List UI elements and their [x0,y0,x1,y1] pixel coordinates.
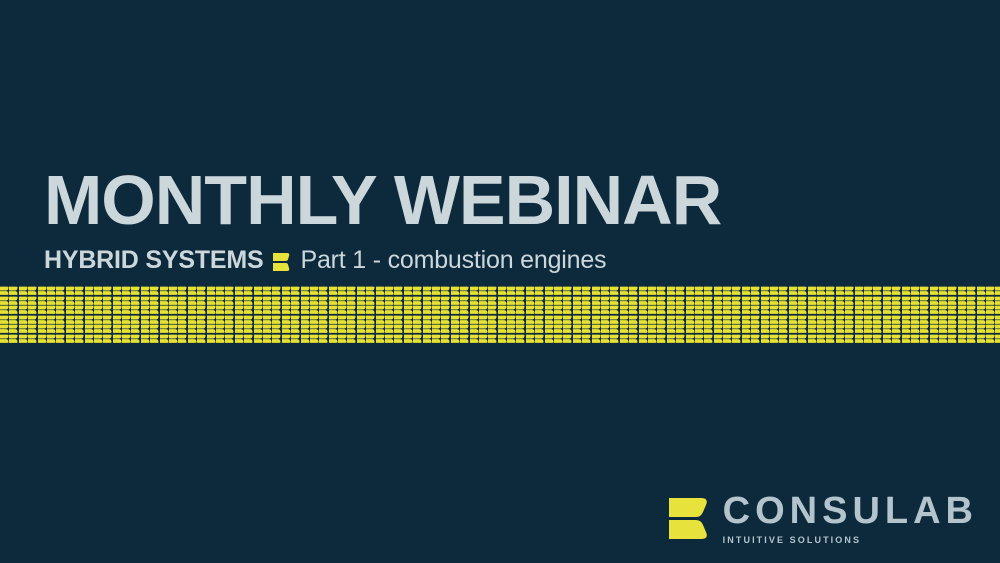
consulab-mark-tile-icon [56,296,65,306]
consulab-mark-tile-icon [169,324,178,334]
consulab-mark-tile-icon [695,296,704,306]
consulab-mark-tile-icon [47,296,56,306]
consulab-mark-tile-icon [535,315,544,325]
consulab-mark-tile-icon [855,296,864,306]
consulab-mark-tile-icon [545,305,554,315]
consulab-mark-icon [669,496,709,541]
consulab-mark-tile-icon [695,286,704,296]
consulab-mark-tile-icon [329,296,338,306]
consulab-mark-tile-icon [545,334,554,344]
consulab-mark-tile-icon [291,334,300,344]
consulab-mark-tile-icon [404,315,413,325]
consulab-mark-tile-icon [28,324,37,334]
consulab-mark-tile-icon [404,286,413,296]
consulab-mark-tile-icon [667,296,676,306]
consulab-mark-tile-icon [676,324,685,334]
consulab-mark-tile-icon [225,286,234,296]
consulab-mark-tile-icon [563,324,572,334]
consulab-mark-tile-icon [460,296,469,306]
consulab-mark-tile-icon [85,296,94,306]
consulab-mark-tile-icon [582,286,591,296]
consulab-mark-tile-icon [751,305,760,315]
consulab-mark-tile-icon [357,324,366,334]
consulab-mark-tile-icon [366,296,375,306]
consulab-mark-tile-icon [357,305,366,315]
consulab-mark-tile-icon [545,296,554,306]
consulab-mark-tile-icon [610,286,619,296]
consulab-mark-tile-icon [639,324,648,334]
consulab-mark-tile-icon [66,324,75,334]
consulab-mark-tile-icon [883,286,892,296]
consulab-mark-tile-icon [939,324,948,334]
consulab-mark-tile-icon [742,305,751,315]
consulab-mark-tile-icon [197,324,206,334]
consulab-mark-tile-icon [902,286,911,296]
consulab-mark-tile-icon [808,286,817,296]
consulab-mark-tile-icon [169,305,178,315]
consulab-mark-tile-icon [470,286,479,296]
consulab-mark-tile-icon [845,305,854,315]
title-block: MONTHLY WEBINAR HYBRID SYSTEMS Part 1 - … [44,165,721,275]
consulab-mark-tile-icon [526,324,535,334]
consulab-mark-tile-icon [995,286,1000,296]
consulab-mark-tile-icon [441,286,450,296]
consulab-mark-tile-icon [554,324,563,334]
logo-tagline: INTUITIVE SOLUTIONS [723,536,978,545]
consulab-mark-tile-icon [751,296,760,306]
consulab-mark-tile-icon [122,324,131,334]
consulab-mark-tile-icon [28,315,37,325]
consulab-mark-tile-icon [958,286,967,296]
consulab-mark-tile-icon [263,286,272,296]
consulab-mark-tile-icon [216,315,225,325]
consulab-mark-tile-icon [855,324,864,334]
consulab-mark-tile-icon [423,296,432,306]
consulab-mark-tile-icon [310,305,319,315]
consulab-mark-tile-icon [225,296,234,306]
consulab-mark-tile-icon [310,324,319,334]
logo-wordmark: CONSULAB [723,492,978,530]
consulab-mark-tile-icon [601,315,610,325]
consulab-mark-tile-icon [357,286,366,296]
consulab-mark-tile-icon [235,315,244,325]
consulab-mark-tile-icon [798,305,807,315]
consulab-mark-tile-icon [732,315,741,325]
consulab-mark-tile-icon [667,286,676,296]
consulab-mark-tile-icon [178,296,187,306]
consulab-mark-tile-icon [394,324,403,334]
consulab-mark-tile-icon [808,305,817,315]
consulab-mark-icon [273,252,290,272]
consulab-mark-tile-icon [592,324,601,334]
consulab-mark-tile-icon [892,296,901,306]
consulab-mark-tile-icon [319,334,328,344]
consulab-mark-tile-icon [488,296,497,306]
consulab-mark-tile-icon [488,305,497,315]
consulab-mark-tile-icon [160,334,169,344]
consulab-mark-tile-icon [244,286,253,296]
consulab-mark-tile-icon [0,324,9,334]
consulab-mark-tile-icon [404,324,413,334]
consulab-mark-tile-icon [873,305,882,315]
consulab-mark-tile-icon [911,305,920,315]
consulab-mark-tile-icon [948,305,957,315]
consulab-mark-tile-icon [948,296,957,306]
consulab-mark-tile-icon [131,334,140,344]
consulab-mark-tile-icon [272,305,281,315]
consulab-mark-tile-icon [113,296,122,306]
consulab-mark-tile-icon [732,305,741,315]
consulab-mark-tile-icon [742,334,751,344]
consulab-mark-tile-icon [648,315,657,325]
consulab-mark-tile-icon [986,305,995,315]
consulab-mark-tile-icon [573,315,582,325]
consulab-mark-tile-icon [573,296,582,306]
consulab-mark-tile-icon [470,305,479,315]
consulab-mark-tile-icon [282,296,291,306]
consulab-mark-tile-icon [338,315,347,325]
consulab-mark-tile-icon [977,305,986,315]
consulab-mark-tile-icon [930,305,939,315]
consulab-mark-tile-icon [122,305,131,315]
consulab-mark-tile-icon [94,315,103,325]
consulab-mark-tile-icon [911,286,920,296]
consulab-mark-tile-icon [197,334,206,344]
consulab-mark-tile-icon [610,305,619,315]
consulab-mark-tile-icon [150,334,159,344]
consulab-mark-tile-icon [798,286,807,296]
consulab-mark-tile-icon [592,334,601,344]
consulab-mark-tile-icon [66,286,75,296]
consulab-mark-tile-icon [920,296,929,306]
consulab-mark-tile-icon [347,334,356,344]
consulab-mark-tile-icon [714,305,723,315]
consulab-mark-tile-icon [873,296,882,306]
consulab-mark-tile-icon [582,315,591,325]
consulab-mark-tile-icon [329,286,338,296]
consulab-mark-tile-icon [366,315,375,325]
consulab-mark-tile-icon [779,324,788,334]
consulab-mark-tile-icon [479,315,488,325]
consulab-mark-tile-icon [667,315,676,325]
consulab-mark-tile-icon [347,305,356,315]
consulab-mark-tile-icon [9,305,18,315]
consulab-mark-tile-icon [676,296,685,306]
consulab-mark-tile-icon [939,296,948,306]
consulab-mark-tile-icon [178,305,187,315]
consulab-mark-tile-icon [864,315,873,325]
consulab-mark-tile-icon [657,305,666,315]
consulab-mark-tile-icon [385,286,394,296]
consulab-mark-tile-icon [85,286,94,296]
consulab-mark-tile-icon [498,296,507,306]
consulab-mark-tile-icon [808,296,817,306]
consulab-mark-tile-icon [902,334,911,344]
consulab-mark-tile-icon [329,305,338,315]
consulab-mark-tile-icon [601,324,610,334]
consulab-mark-tile-icon [930,296,939,306]
consulab-mark-tile-icon [977,324,986,334]
consulab-mark-tile-icon [451,296,460,306]
consulab-mark-tile-icon [826,305,835,315]
consulab-mark-tile-icon [338,334,347,344]
consulab-mark-tile-icon [291,296,300,306]
consulab-mark-tile-icon [272,286,281,296]
consulab-mark-tile-icon [939,286,948,296]
consulab-mark-tile-icon [366,334,375,344]
consulab-mark-tile-icon [441,324,450,334]
consulab-mark-tile-icon [19,315,28,325]
consulab-mark-tile-icon [855,334,864,344]
consulab-mark-tile-icon [883,296,892,306]
consulab-mark-tile-icon [432,286,441,296]
consulab-mark-tile-icon [516,315,525,325]
consulab-mark-tile-icon [413,315,422,325]
consulab-mark-tile-icon [892,305,901,315]
consulab-mark-tile-icon [28,334,37,344]
consulab-mark-tile-icon [216,324,225,334]
consulab-mark-tile-icon [704,315,713,325]
consulab-mark-tile-icon [207,315,216,325]
consulab-mark-tile-icon [291,286,300,296]
consulab-mark-tile-icon [263,296,272,306]
consulab-mark-tile-icon [864,324,873,334]
consulab-mark-tile-icon [150,305,159,315]
consulab-mark-tile-icon [207,296,216,306]
consulab-mark-tile-icon [977,315,986,325]
consulab-mark-tile-icon [75,305,84,315]
consulab-mark-tile-icon [423,315,432,325]
consulab-mark-tile-icon [873,315,882,325]
consulab-mark-tile-icon [329,334,338,344]
consulab-mark-tile-icon [28,296,37,306]
consulab-mark-tile-icon [498,324,507,334]
consulab-mark-tile-icon [310,334,319,344]
consulab-mark-tile-icon [178,324,187,334]
consulab-mark-tile-icon [150,286,159,296]
consulab-mark-tile-icon [188,286,197,296]
consulab-mark-tile-icon [394,296,403,306]
consulab-mark-tile-icon [507,305,516,315]
consulab-mark-tile-icon [704,296,713,306]
consulab-mark-tile-icon [9,334,18,344]
consulab-mark-tile-icon [113,324,122,334]
consulab-mark-tile-icon [470,324,479,334]
consulab-mark-tile-icon [967,324,976,334]
consulab-mark-tile-icon [629,315,638,325]
consulab-mark-tile-icon [516,296,525,306]
consulab-mark-tile-icon [432,324,441,334]
consulab-mark-tile-icon [169,315,178,325]
consulab-mark-tile-icon [197,286,206,296]
consulab-mark-tile-icon [282,315,291,325]
consulab-mark-tile-icon [817,315,826,325]
consulab-mark-tile-icon [301,286,310,296]
consulab-mark-tile-icon [366,305,375,315]
consulab-mark-tile-icon [995,324,1000,334]
consulab-mark-tile-icon [75,286,84,296]
consulab-mark-tile-icon [38,334,47,344]
consulab-mark-tile-icon [103,305,112,315]
consulab-mark-tile-icon [141,305,150,315]
consulab-mark-tile-icon [197,315,206,325]
pattern-row [0,315,1000,325]
consulab-mark-tile-icon [94,286,103,296]
consulab-mark-tile-icon [122,296,131,306]
consulab-mark-tile-icon [639,334,648,344]
consulab-mark-tile-icon [188,305,197,315]
consulab-mark-tile-icon [423,305,432,315]
consulab-mark-tile-icon [479,334,488,344]
consulab-mark-tile-icon [826,296,835,306]
consulab-mark-tile-icon [667,334,676,344]
consulab-mark-tile-icon [864,334,873,344]
consulab-mark-tile-icon [855,305,864,315]
consulab-mark-tile-icon [263,334,272,344]
consulab-mark-tile-icon [47,334,56,344]
consulab-mark-tile-icon [648,324,657,334]
consulab-mark-tile-icon [836,296,845,306]
consulab-mark-tile-icon [150,296,159,306]
consulab-mark-tile-icon [714,296,723,306]
consulab-mark-tile-icon [911,315,920,325]
consulab-mark-tile-icon [207,305,216,315]
consulab-mark-tile-icon [779,315,788,325]
consulab-mark-tile-icon [394,315,403,325]
consulab-mark-tile-icon [648,286,657,296]
consulab-mark-tile-icon [131,315,140,325]
consulab-mark-tile-icon [526,296,535,306]
consulab-mark-tile-icon [413,305,422,315]
consulab-mark-tile-icon [423,334,432,344]
consulab-mark-tile-icon [301,296,310,306]
consulab-mark-tile-icon [920,305,929,315]
consulab-mark-tile-icon [714,334,723,344]
consulab-mark-tile-icon [554,315,563,325]
consulab-mark-tile-icon [911,334,920,344]
page-title: MONTHLY WEBINAR [44,165,721,235]
consulab-mark-tile-icon [855,286,864,296]
consulab-mark-tile-icon [366,324,375,334]
consulab-mark-tile-icon [188,296,197,306]
consulab-mark-tile-icon [948,286,957,296]
consulab-mark-tile-icon [686,286,695,296]
consulab-mark-tile-icon [855,315,864,325]
consulab-mark-tile-icon [554,305,563,315]
consulab-mark-tile-icon [563,305,572,315]
consulab-mark-tile-icon [629,286,638,296]
consulab-mark-tile-icon [479,305,488,315]
consulab-mark-tile-icon [423,324,432,334]
consulab-mark-tile-icon [301,305,310,315]
consulab-mark-tile-icon [920,315,929,325]
consulab-mark-tile-icon [573,324,582,334]
consulab-mark-tile-icon [404,305,413,315]
consulab-mark-tile-icon [122,315,131,325]
consulab-mark-tile-icon [789,296,798,306]
consulab-mark-tile-icon [948,315,957,325]
consulab-mark-tile-icon [902,315,911,325]
consulab-mark-tile-icon [291,324,300,334]
consulab-mark-tile-icon [470,334,479,344]
consulab-mark-tile-icon [676,334,685,344]
consulab-mark-tile-icon [338,324,347,334]
consulab-mark-tile-icon [310,286,319,296]
consulab-mark-tile-icon [376,334,385,344]
consulab-mark-tile-icon [930,334,939,344]
consulab-mark-tile-icon [460,334,469,344]
consulab-mark-tile-icon [103,296,112,306]
consulab-mark-tile-icon [620,296,629,306]
consulab-mark-tile-icon [291,315,300,325]
consulab-mark-tile-icon [347,324,356,334]
consulab-mark-tile-icon [657,315,666,325]
consulab-mark-tile-icon [751,315,760,325]
consulab-mark-tile-icon [995,296,1000,306]
consulab-mark-tile-icon [751,286,760,296]
consulab-mark-tile-icon [770,334,779,344]
consulab-mark-tile-icon [920,286,929,296]
consulab-mark-tile-icon [958,296,967,306]
consulab-mark-tile-icon [751,334,760,344]
consulab-mark-tile-icon [488,324,497,334]
consulab-mark-tile-icon [592,296,601,306]
consulab-mark-tile-icon [441,334,450,344]
consulab-mark-tile-icon [441,305,450,315]
consulab-mark-tile-icon [873,286,882,296]
consulab-mark-tile-icon [432,305,441,315]
consulab-mark-tile-icon [507,324,516,334]
consulab-mark-tile-icon [319,324,328,334]
consulab-mark-tile-icon [56,324,65,334]
consulab-mark-tile-icon [66,315,75,325]
consulab-mark-tile-icon [441,296,450,306]
consulab-mark-tile-icon [817,286,826,296]
pattern-row [0,324,1000,334]
consulab-mark-tile-icon [704,334,713,344]
consulab-mark-tile-icon [789,305,798,315]
consulab-mark-tile-icon [319,315,328,325]
consulab-mark-tile-icon [488,315,497,325]
consulab-mark-tile-icon [169,286,178,296]
consulab-mark-tile-icon [301,315,310,325]
consulab-mark-tile-icon [723,334,732,344]
consulab-mark-tile-icon [85,334,94,344]
consulab-mark-tile-icon [75,315,84,325]
consulab-mark-tile-icon [714,286,723,296]
consulab-mark-tile-icon [460,315,469,325]
consulab-mark-tile-icon [958,334,967,344]
consulab-mark-tile-icon [19,305,28,315]
consulab-mark-tile-icon [0,305,9,315]
consulab-mark-tile-icon [188,324,197,334]
consulab-mark-tile-icon [122,334,131,344]
consulab-mark-tile-icon [197,296,206,306]
consulab-mark-tile-icon [704,305,713,315]
consulab-mark-tile-icon [441,315,450,325]
consulab-mark-tile-icon [732,334,741,344]
consulab-mark-tile-icon [911,324,920,334]
consulab-mark-tile-icon [338,305,347,315]
consulab-mark-tile-icon [686,305,695,315]
consulab-mark-tile-icon [939,315,948,325]
consulab-mark-tile-icon [714,315,723,325]
consulab-mark-tile-icon [723,296,732,306]
subtitle-part: Part 1 - combustion engines [300,246,606,275]
consulab-mark-tile-icon [178,334,187,344]
consulab-mark-tile-icon [883,334,892,344]
consulab-mark-tile-icon [883,305,892,315]
